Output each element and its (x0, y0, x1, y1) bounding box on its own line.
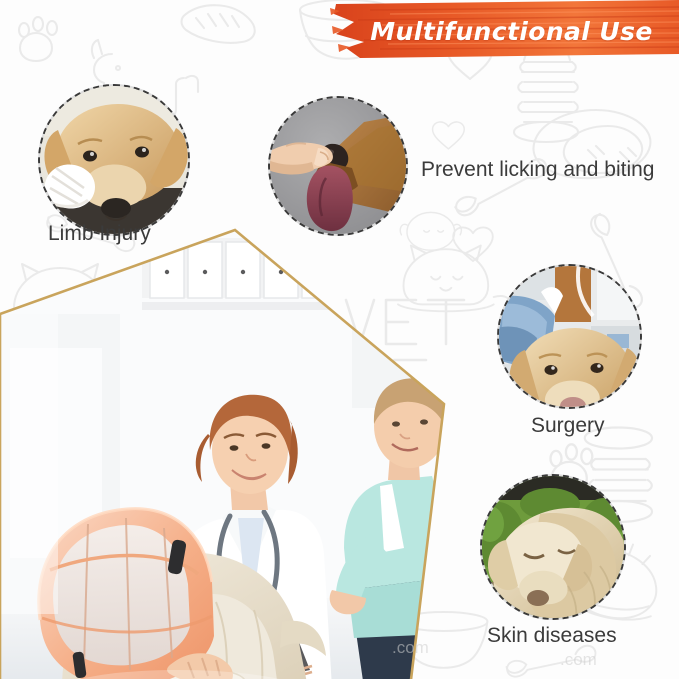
dog-licking-finger-photo (268, 96, 408, 236)
feature-photo-prevent-licking (268, 96, 408, 236)
watermark-right: .com (560, 650, 597, 670)
infographic-canvas: Multifunctional Use (0, 0, 679, 679)
dog-scratching-itself-photo (480, 474, 626, 620)
main-product-photo (0, 218, 452, 679)
watermark-left: .com (392, 638, 429, 658)
feature-photo-skin-diseases (480, 474, 626, 620)
dog-on-vet-table-photo (497, 264, 642, 409)
feature-label-prevent-licking: Prevent licking and biting (421, 158, 654, 182)
paw-print-icon (19, 17, 57, 61)
feature-photo-surgery (497, 264, 642, 409)
feature-label-surgery: Surgery (531, 414, 605, 438)
dog-with-bandaged-paw-photo (38, 84, 190, 236)
title-banner: Multifunctional Use (330, 0, 679, 62)
sausage-icon (182, 5, 255, 43)
inflatable-recovery-collar (39, 509, 214, 679)
feature-label-skin-diseases: Skin diseases (487, 624, 617, 648)
heart-icon (433, 122, 465, 149)
banner-title: Multifunctional Use (330, 0, 679, 62)
feature-photo-limb-injury (38, 84, 190, 236)
feature-label-limb-injury: Limb Injury (48, 222, 151, 246)
heart-icon (453, 227, 493, 261)
